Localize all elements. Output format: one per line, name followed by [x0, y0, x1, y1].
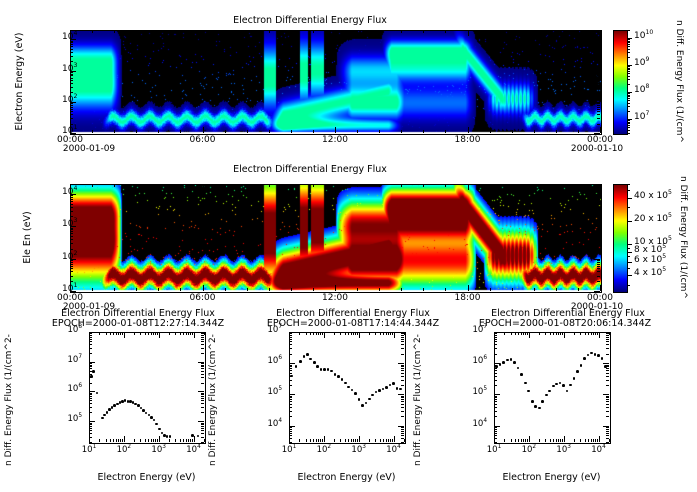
tick-mark: [423, 130, 424, 133]
tick-mark: [597, 262, 600, 263]
tick-mark: [203, 130, 204, 133]
spectrum-y-tick-label: 106: [68, 384, 83, 394]
tick-mark: [269, 288, 270, 291]
x-tick-label: 12:00: [319, 135, 351, 145]
tick-mark: [597, 229, 600, 230]
tick-mark: [597, 236, 600, 237]
tick-mark: [556, 30, 557, 33]
tick-mark: [597, 266, 600, 267]
x-tick-label: 18:00: [452, 293, 484, 303]
tick-mark: [269, 184, 270, 187]
tick-mark: [201, 433, 204, 434]
tick-mark: [186, 439, 187, 442]
tick-mark: [606, 431, 609, 432]
tick-mark: [313, 332, 314, 335]
tick-mark: [521, 439, 522, 442]
tick-mark: [401, 407, 404, 408]
tick-mark: [299, 439, 300, 442]
tick-mark: [289, 436, 290, 442]
tick-mark: [70, 105, 73, 106]
tick-mark: [512, 184, 513, 187]
data-point: [313, 361, 316, 364]
tick-mark: [606, 396, 609, 397]
tick-mark: [70, 204, 73, 205]
tick-mark: [627, 93, 630, 94]
tick-mark: [597, 260, 600, 261]
tick-mark: [578, 30, 579, 33]
tick-mark: [70, 207, 73, 208]
tick-mark: [594, 291, 600, 292]
tick-mark: [606, 404, 609, 405]
tick-mark: [597, 83, 600, 84]
tick-mark: [89, 430, 92, 431]
tick-mark: [70, 80, 73, 81]
tick-mark: [318, 439, 319, 442]
spectrum-y-tick-label: 105: [268, 387, 283, 397]
tick-mark: [247, 288, 248, 291]
tick-mark: [106, 439, 107, 442]
tick-mark: [324, 436, 325, 442]
tick-mark: [89, 412, 92, 413]
tick-mark: [627, 46, 630, 47]
tick-mark: [247, 30, 248, 33]
data-point: [527, 390, 530, 393]
tick-mark: [627, 198, 630, 199]
tick-mark: [379, 288, 380, 291]
tick-mark: [606, 376, 609, 377]
tick-mark: [627, 130, 630, 131]
tick-mark: [203, 184, 204, 187]
tick-mark: [627, 244, 630, 245]
tick-mark: [70, 114, 73, 115]
tick-mark: [153, 439, 154, 442]
tick-mark: [609, 439, 610, 442]
data-point: [92, 370, 95, 373]
tick-mark: [423, 30, 424, 33]
tick-mark: [606, 397, 609, 398]
tick-mark: [89, 363, 92, 364]
spectrum-y-tick-label: 108: [68, 325, 83, 335]
tick-mark: [70, 92, 73, 93]
tick-mark: [70, 199, 73, 200]
tick-mark: [609, 332, 610, 335]
tick-mark: [392, 332, 393, 335]
spectrum-y-tick-label: 107: [268, 325, 283, 335]
tick-mark: [521, 332, 522, 335]
tick-mark: [401, 288, 402, 291]
data-point: [392, 382, 395, 385]
tick-mark: [289, 366, 292, 367]
tick-mark: [201, 344, 204, 345]
tick-mark: [490, 184, 491, 187]
tick-mark: [289, 385, 292, 386]
tick-mark: [574, 439, 575, 442]
tick-mark: [627, 184, 630, 185]
tick-mark: [289, 401, 292, 402]
tick-mark: [289, 431, 292, 432]
tick-mark: [186, 332, 187, 335]
tick-mark: [494, 385, 497, 386]
tick-mark: [70, 49, 73, 50]
data-point: [334, 373, 337, 376]
tick-mark: [188, 332, 189, 335]
tick-mark: [110, 439, 111, 442]
tick-mark: [595, 439, 596, 442]
tick-mark: [490, 30, 491, 33]
tick-mark: [468, 288, 469, 291]
tick-mark: [606, 335, 609, 336]
tick-mark: [175, 439, 176, 442]
tick-mark: [89, 344, 92, 345]
data-point: [106, 411, 109, 414]
tick-mark: [70, 243, 73, 244]
tick-mark: [225, 288, 226, 291]
tick-mark: [445, 30, 446, 33]
tick-mark: [534, 288, 535, 291]
spectrum-x-tick-label: 102: [513, 445, 545, 455]
tick-mark: [201, 423, 204, 424]
tick-mark: [89, 396, 92, 397]
tick-mark: [606, 429, 609, 430]
tick-mark: [70, 75, 73, 76]
tick-mark: [494, 404, 497, 405]
tick-mark: [606, 380, 609, 381]
tick-mark: [564, 332, 565, 338]
tick-mark: [599, 436, 600, 442]
tick-mark: [201, 407, 204, 408]
spectrum-x-tick-label: 104: [378, 445, 410, 455]
tick-mark: [553, 439, 554, 442]
tick-mark: [627, 84, 630, 85]
tick-mark: [289, 368, 292, 369]
tick-mark: [70, 288, 71, 291]
spectrum-y-tick-label: 106: [473, 356, 488, 366]
data-point: [323, 368, 326, 371]
tick-mark: [627, 122, 630, 123]
data-point: [361, 404, 364, 407]
tick-mark: [398, 363, 404, 364]
tick-mark: [494, 370, 497, 371]
tick-mark: [225, 30, 226, 33]
tick-mark: [494, 376, 497, 377]
data-point: [169, 435, 172, 438]
x-tick-label: 12:00: [319, 293, 351, 303]
tick-mark: [169, 439, 170, 442]
tick-mark: [157, 332, 158, 335]
tick-mark: [490, 288, 491, 291]
tick-mark: [627, 38, 630, 39]
tick-mark: [289, 396, 292, 397]
tick-mark: [386, 439, 387, 442]
tick-mark: [578, 288, 579, 291]
tick-mark: [627, 57, 630, 58]
tick-mark: [401, 348, 404, 349]
tick-mark: [145, 332, 146, 335]
tick-mark: [550, 439, 551, 442]
tick-mark: [120, 439, 121, 442]
tick-mark: [562, 332, 563, 335]
tick-mark: [113, 332, 114, 335]
tick-mark: [289, 373, 292, 374]
tick-mark: [597, 195, 600, 196]
tick-mark: [578, 184, 579, 187]
tick-mark: [289, 407, 292, 408]
tick-mark: [375, 439, 376, 442]
tick-mark: [183, 439, 184, 442]
data-point: [347, 386, 350, 389]
tick-mark: [289, 380, 292, 381]
tick-mark: [606, 442, 609, 443]
tick-mark: [494, 436, 495, 442]
tick-mark: [627, 268, 630, 269]
spectrum-x-tick-label: 104: [583, 445, 615, 455]
tick-mark: [597, 42, 600, 43]
tick-mark: [92, 30, 93, 33]
tick-mark: [136, 288, 137, 291]
tick-mark: [198, 421, 204, 422]
data-point: [191, 434, 194, 437]
spectrum-x-tick-label: 101: [478, 445, 510, 455]
tick-mark: [335, 30, 336, 33]
tick-mark: [70, 228, 73, 229]
tick-mark: [180, 288, 181, 291]
tick-mark: [401, 416, 404, 417]
tick-mark: [289, 339, 292, 340]
tick-mark: [494, 407, 497, 408]
tick-mark: [627, 92, 630, 93]
tick-mark: [122, 439, 123, 442]
tick-mark: [110, 332, 111, 335]
data-point: [101, 417, 104, 420]
tick-mark: [289, 370, 292, 371]
tick-mark: [155, 332, 156, 335]
tick-mark: [201, 437, 204, 438]
tick-mark: [310, 439, 311, 442]
tick-mark: [379, 184, 380, 187]
tick-mark: [504, 439, 505, 442]
tick-mark: [194, 436, 195, 442]
tick-mark: [392, 439, 393, 442]
spectrum-x-tick-label: 104: [178, 445, 210, 455]
tick-mark: [194, 332, 195, 338]
tick-mark: [89, 348, 92, 349]
tick-mark: [289, 433, 292, 434]
tick-mark: [313, 184, 314, 187]
spectrum3-xlabel: Electron Energy (eV): [494, 472, 609, 483]
tick-mark: [201, 424, 204, 425]
tick-mark: [597, 109, 600, 110]
tick-mark: [89, 423, 92, 424]
tick-mark: [357, 184, 358, 187]
tick-mark: [359, 436, 360, 442]
tick-mark: [494, 341, 497, 342]
tick-mark: [494, 348, 497, 349]
tick-mark: [494, 380, 497, 381]
tick-mark: [357, 332, 358, 335]
tick-mark: [269, 130, 270, 133]
panel1-colorbar-label: n Diff. Energy Flux (1/(cm^: [672, 20, 686, 160]
tick-mark: [562, 439, 563, 442]
tick-mark: [574, 332, 575, 335]
tick-mark: [134, 439, 135, 442]
spectrum-x-tick-label: 101: [73, 445, 105, 455]
tick-mark: [518, 332, 519, 335]
tick-mark: [585, 439, 586, 442]
tick-mark: [201, 398, 204, 399]
tick-mark: [627, 119, 630, 120]
data-point: [534, 405, 537, 408]
tick-mark: [606, 399, 609, 400]
tick-mark: [468, 130, 469, 133]
tick-mark: [445, 130, 446, 133]
tick-mark: [89, 339, 92, 340]
tick-mark: [594, 133, 600, 134]
tick-mark: [580, 332, 581, 335]
tick-mark: [627, 190, 630, 191]
tick-mark: [597, 197, 600, 198]
tick-mark: [198, 391, 204, 392]
tick-mark: [89, 391, 95, 392]
tick-mark: [401, 370, 404, 371]
spectrum-x-tick-label: 103: [143, 445, 175, 455]
tick-mark: [627, 42, 630, 43]
tick-mark: [627, 30, 630, 31]
tick-mark: [558, 439, 559, 442]
tick-mark: [334, 439, 335, 442]
panel2-colorbar-label: n Diff. Energy Flux (1/(cm^: [676, 176, 690, 321]
tick-mark: [340, 439, 341, 442]
tick-mark: [401, 130, 402, 133]
tick-mark: [201, 412, 204, 413]
tick-mark: [340, 332, 341, 335]
data-point: [597, 354, 600, 357]
tick-mark: [600, 288, 601, 291]
tick-mark: [597, 332, 598, 335]
tick-mark: [247, 130, 248, 133]
tick-mark: [116, 332, 117, 335]
tick-mark: [118, 439, 119, 442]
tick-mark: [99, 332, 100, 335]
tick-mark: [627, 106, 630, 107]
tick-mark: [597, 49, 600, 50]
tick-mark: [597, 72, 600, 73]
tick-mark: [291, 130, 292, 133]
tick-mark: [593, 439, 594, 442]
tick-mark: [70, 87, 73, 88]
tick-mark: [70, 264, 73, 265]
tick-mark: [585, 332, 586, 335]
data-point: [583, 357, 586, 360]
tick-mark: [136, 184, 137, 187]
tick-mark: [70, 78, 73, 79]
tick-mark: [353, 439, 354, 442]
tick-mark: [556, 288, 557, 291]
tick-mark: [597, 207, 600, 208]
tick-mark: [494, 373, 497, 374]
tick-mark: [320, 332, 321, 335]
tick-mark: [627, 69, 630, 70]
spectrum-y-tick-label: 107: [68, 355, 83, 365]
tick-mark: [201, 400, 204, 401]
tick-mark: [597, 216, 600, 217]
tick-mark: [106, 332, 107, 335]
tick-mark: [383, 332, 384, 335]
tick-mark: [357, 30, 358, 33]
tick-mark: [529, 436, 530, 442]
tick-mark: [89, 403, 92, 404]
tick-mark: [201, 353, 204, 354]
tick-mark: [606, 433, 609, 434]
data-point: [337, 375, 340, 378]
tick-mark: [70, 42, 73, 43]
data-point: [604, 365, 607, 368]
tick-mark: [92, 184, 93, 187]
tick-mark: [70, 103, 73, 104]
tick-mark: [591, 439, 592, 442]
colorbar-tick-label: 6 x 105: [634, 255, 666, 265]
tick-mark: [92, 130, 93, 133]
tick-mark: [335, 288, 336, 291]
data-point: [396, 387, 399, 390]
tick-mark: [597, 107, 600, 108]
tick-mark: [494, 411, 497, 412]
tick-mark: [291, 288, 292, 291]
tick-mark: [401, 435, 404, 436]
tick-mark: [120, 332, 121, 335]
tick-mark: [515, 332, 516, 335]
data-point: [562, 384, 565, 387]
tick-mark: [380, 332, 381, 335]
tick-mark: [401, 373, 404, 374]
tick-mark: [627, 252, 630, 253]
tick-mark: [627, 65, 630, 66]
tick-mark: [183, 332, 184, 335]
tick-mark: [627, 95, 630, 96]
tick-mark: [114, 130, 115, 133]
tick-mark: [627, 248, 630, 249]
tick-mark: [70, 195, 73, 196]
tick-mark: [401, 341, 404, 342]
tick-mark: [539, 332, 540, 335]
tick-mark: [627, 68, 630, 69]
tick-mark: [494, 394, 500, 395]
tick-mark: [289, 416, 292, 417]
tick-mark: [89, 366, 92, 367]
tick-mark: [597, 439, 598, 442]
tick-mark: [353, 332, 354, 335]
tick-mark: [351, 332, 352, 335]
tick-mark: [390, 332, 391, 335]
tick-mark: [116, 439, 117, 442]
tick-mark: [114, 184, 115, 187]
tick-mark: [201, 365, 204, 366]
tick-mark: [597, 74, 600, 75]
data-point: [316, 365, 319, 368]
tick-mark: [201, 383, 204, 384]
tick-mark: [89, 442, 92, 443]
tick-mark: [597, 111, 600, 112]
tick-mark: [401, 385, 404, 386]
tick-mark: [379, 130, 380, 133]
tick-mark: [225, 130, 226, 133]
tick-mark: [289, 411, 292, 412]
tick-mark: [597, 268, 600, 269]
spectrum3-epoch: EPOCH=2000-01-08T20:06:14.344Z: [460, 318, 670, 329]
spectrum1-xlabel: Electron Energy (eV): [89, 472, 204, 483]
tick-mark: [190, 439, 191, 442]
tick-mark: [398, 394, 404, 395]
panel1-ylabel: Electron Energy (eV): [14, 30, 28, 133]
